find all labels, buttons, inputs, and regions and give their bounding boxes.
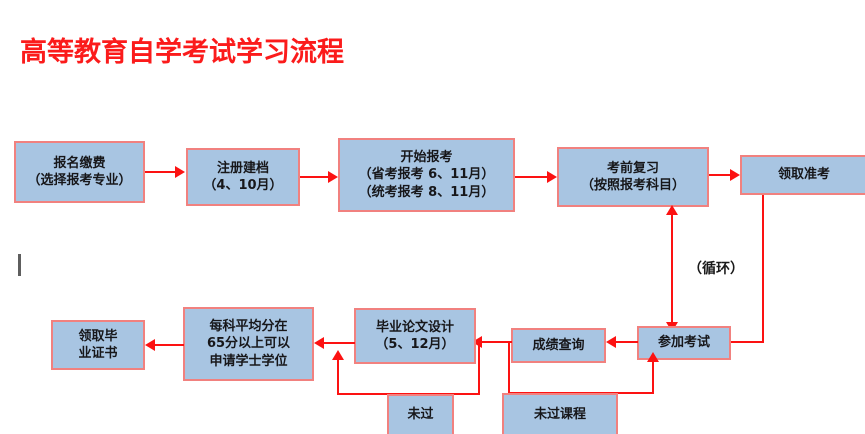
- node-start-signup-line3: （统考报考 8、11月）: [359, 184, 495, 201]
- node-apply-pay-line1: 报名缴费: [53, 155, 105, 172]
- connector-register-to-signup: [300, 176, 330, 178]
- node-apply-pay-line2: （选择报考专业）: [27, 172, 131, 189]
- node-failed-line1: 未过: [407, 406, 433, 423]
- connector-failed-down: [478, 342, 480, 395]
- flowchart-canvas: 高等教育自学考试学习流程 报名缴费 （选择报考专业） 注册建档 （4、10月） …: [0, 0, 865, 434]
- node-register-line1: 注册建档: [217, 160, 269, 177]
- text-caret-artifact: [18, 254, 21, 276]
- arrowhead-thesis-to-degree: [314, 337, 324, 349]
- connector-apply-to-register: [145, 171, 177, 173]
- loop-label: （循环）: [688, 258, 744, 278]
- node-failed-courses-line1: 未过课程: [534, 406, 586, 423]
- node-get-admission-ticket-line1: 领取准考: [778, 166, 830, 183]
- node-bachelor-degree-line3: 申请学士学位: [209, 353, 287, 370]
- arrowhead-register-to-signup: [328, 171, 338, 183]
- node-start-signup-line2: （省考报考 6、11月）: [359, 166, 495, 183]
- node-review-line1: 考前复习: [607, 160, 659, 177]
- connector-failed-courses-down: [508, 342, 510, 394]
- connector-review-to-ticket: [709, 174, 732, 176]
- arrowhead-loop-up: [666, 205, 678, 215]
- node-graduation-cert-line1: 领取毕: [78, 328, 117, 345]
- connector-signup-to-review: [515, 176, 549, 178]
- node-failed[interactable]: 未过: [387, 394, 454, 434]
- node-failed-courses[interactable]: 未过课程: [502, 393, 618, 434]
- node-thesis[interactable]: 毕业论文设计 （5、12月）: [354, 308, 476, 364]
- node-review[interactable]: 考前复习 （按照报考科目）: [557, 147, 709, 207]
- arrowhead-failed-up: [332, 350, 344, 360]
- node-bachelor-degree-line2: 65分以上可以: [207, 335, 290, 352]
- node-graduation-cert[interactable]: 领取毕 业证书: [51, 320, 145, 370]
- arrowhead-degree-to-cert: [145, 339, 155, 351]
- node-register[interactable]: 注册建档 （4、10月）: [186, 148, 300, 206]
- connector-exam-to-score: [614, 341, 638, 343]
- node-register-line2: （4、10月）: [203, 177, 282, 194]
- connector-failed-courses-up: [652, 360, 654, 394]
- node-apply-pay[interactable]: 报名缴费 （选择报考专业）: [14, 141, 145, 203]
- arrowhead-signup-to-review: [547, 171, 557, 183]
- arrowhead-exam-to-score: [606, 336, 616, 348]
- node-bachelor-degree[interactable]: 每科平均分在 65分以上可以 申请学士学位: [183, 307, 314, 381]
- node-thesis-line1: 毕业论文设计: [376, 319, 454, 336]
- connector-failed-up: [337, 358, 339, 395]
- node-review-line2: （按照报考科目）: [581, 177, 685, 194]
- node-bachelor-degree-line1: 每科平均分在: [209, 318, 287, 335]
- connector-degree-to-cert: [153, 344, 184, 346]
- connector-thesis-to-degree: [322, 342, 355, 344]
- node-thesis-line2: （5、12月）: [375, 336, 454, 353]
- connector-ticket-down: [762, 195, 764, 343]
- arrowhead-apply-to-register: [175, 166, 185, 178]
- node-start-signup-line1: 开始报考: [400, 149, 452, 166]
- node-take-exam-line1: 参加考试: [658, 334, 710, 351]
- arrowhead-review-to-ticket: [730, 169, 740, 181]
- node-get-admission-ticket[interactable]: 领取准考: [740, 155, 865, 195]
- connector-loop-vertical: [671, 214, 673, 324]
- node-check-score-line1: 成绩查询: [532, 337, 584, 354]
- node-check-score[interactable]: 成绩查询: [511, 328, 606, 363]
- arrowhead-failed-courses-up: [647, 352, 659, 362]
- node-graduation-cert-line2: 业证书: [78, 345, 117, 362]
- node-start-signup[interactable]: 开始报考 （省考报考 6、11月） （统考报考 8、11月）: [338, 138, 515, 212]
- page-title: 高等教育自学考试学习流程: [20, 38, 344, 68]
